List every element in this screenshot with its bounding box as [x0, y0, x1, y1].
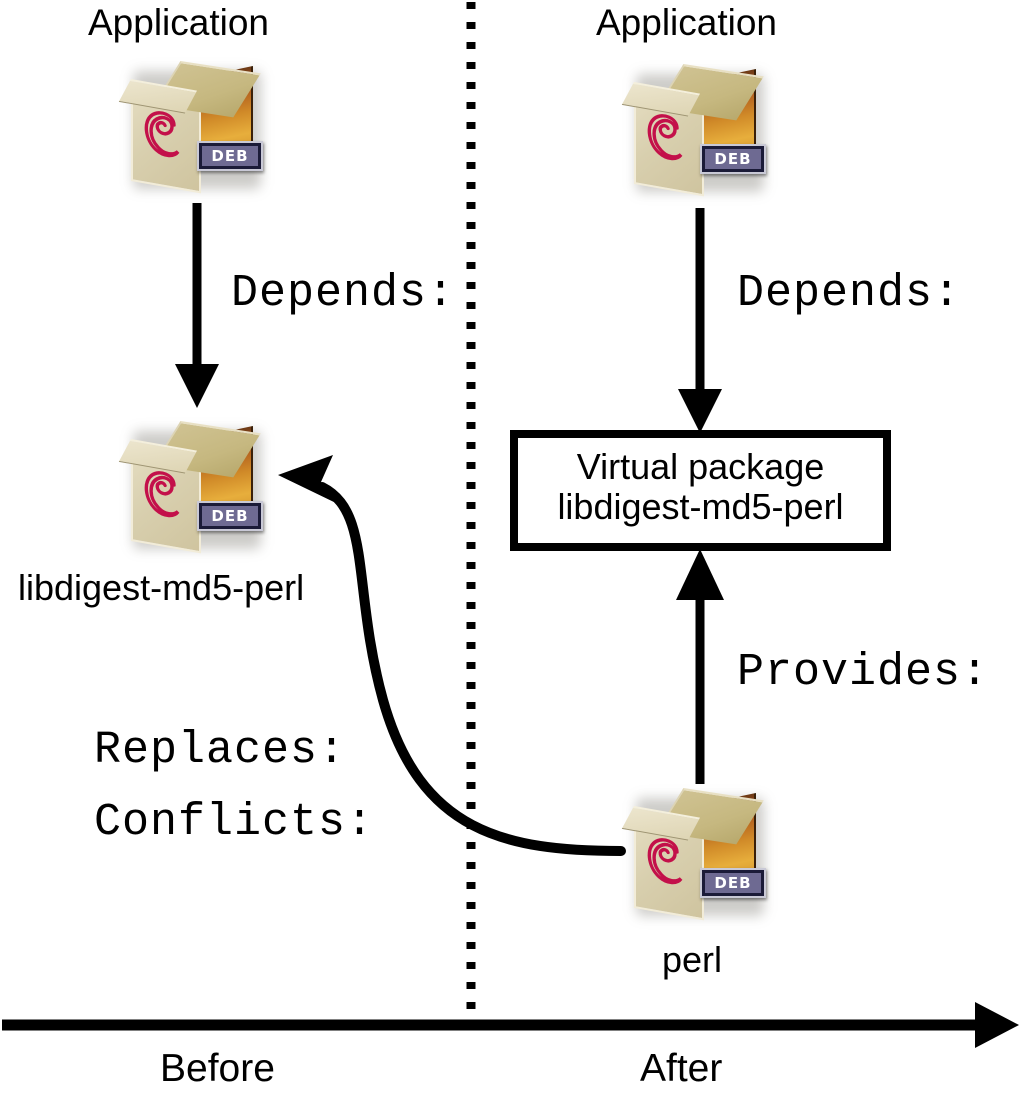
deb-badge: DEB — [700, 868, 766, 898]
package-icon-left-application: DEB — [123, 55, 273, 197]
perl-package-label: perl — [662, 942, 722, 978]
deb-badge-label: DEB — [202, 506, 258, 526]
deb-badge: DEB — [197, 501, 263, 531]
deb-badge: DEB — [197, 141, 263, 171]
debian-swirl-icon — [140, 103, 186, 169]
package-icon-perl: DEB — [626, 782, 776, 924]
replaces-label: Replaces: — [94, 728, 346, 773]
package-icon-right-application: DEB — [626, 58, 776, 200]
right-application-heading: Application — [596, 4, 777, 41]
virtual-package-line1: Virtual package — [514, 447, 887, 487]
conflicts-label: Conflicts: — [94, 800, 374, 845]
left-depends-arrow — [175, 203, 219, 408]
right-depends-arrow — [678, 208, 722, 433]
timeline-after-label: After — [640, 1049, 722, 1088]
libdigest-md5-perl-package-label: libdigest-md5-perl — [18, 570, 304, 606]
left-depends-label: Depends: — [231, 271, 455, 316]
debian-swirl-icon — [643, 106, 689, 172]
virtual-package-line2: libdigest-md5-perl — [514, 487, 887, 527]
package-icon-libdigest-md5-perl: DEB — [123, 415, 273, 557]
deb-badge: DEB — [700, 144, 766, 174]
provides-arrow — [676, 549, 724, 784]
deb-badge-label: DEB — [705, 149, 761, 169]
deb-badge-label: DEB — [705, 873, 761, 893]
provides-label: Provides: — [737, 650, 989, 695]
virtual-package-box-text: Virtual package libdigest-md5-perl — [514, 447, 887, 528]
debian-swirl-icon — [643, 830, 689, 896]
left-application-heading: Application — [88, 4, 269, 41]
diagram-canvas: DEB DEB DEB — [0, 0, 1024, 1094]
deb-badge-label: DEB — [202, 146, 258, 166]
timeline-before-label: Before — [160, 1049, 275, 1088]
right-depends-label: Depends: — [737, 271, 961, 316]
debian-swirl-icon — [140, 463, 186, 529]
timeline-axis — [2, 1002, 1019, 1048]
